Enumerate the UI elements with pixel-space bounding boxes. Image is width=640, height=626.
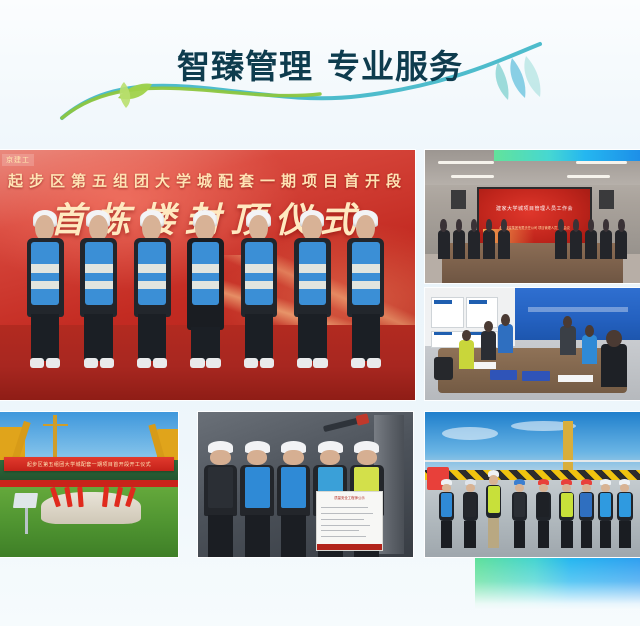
person (485, 470, 502, 548)
person (498, 324, 513, 353)
person (601, 344, 627, 387)
site-visit-scene (425, 412, 640, 557)
person (597, 479, 614, 549)
person (239, 441, 276, 557)
ceremony-scene: 京建工 起步区第五组团大学城配套一期项目首开段 首栋楼封顶仪式 (0, 150, 415, 400)
poster-root: 智臻管理专业服务 京建工 起步区第五组团大学城配套一期项目首开段 首栋楼封顶仪式 (0, 0, 640, 626)
photo-grid: 京建工 起步区第五组团大学城配套一期项目首开段 首栋楼封顶仪式 (0, 0, 640, 626)
led-screen-title: 建家大学城项目管理人员工作会 (479, 205, 591, 212)
podium (13, 493, 38, 508)
person (24, 210, 66, 368)
photo-topping-out-ceremony[interactable]: 京建工 起步区第五组团大学城配套一期项目首开段 首栋楼封顶仪式 (0, 150, 415, 400)
person (462, 479, 479, 549)
tower-crane (563, 421, 574, 470)
person (238, 210, 280, 368)
meeting-room-scene (425, 288, 640, 400)
ceremony-banner: 起步区第五组团大学城配套一期项目首开段开工仪式 (4, 457, 175, 472)
photo-groundbreaking-ceremony[interactable]: 起步区第五组团大学城配套一期项目首开段开工仪式 (0, 412, 178, 557)
person (511, 479, 528, 549)
guardrail (425, 460, 640, 462)
person (558, 479, 575, 549)
photo-site-office-meeting[interactable] (425, 288, 640, 400)
person (481, 331, 496, 360)
board-title: 质量安全工程师公示 (317, 495, 382, 500)
conference-hall-scene: 建家大学城项目管理人员工作会 北京城建集团有限责任公司 项目管理人员工作会议 (425, 150, 640, 283)
bottom-gradient-accent (475, 558, 640, 610)
board-footer (317, 544, 382, 550)
person (345, 210, 387, 368)
photo-workers-with-board[interactable]: 质量安全工程师公示 (198, 412, 413, 557)
person (438, 479, 455, 549)
person (459, 340, 474, 369)
banner-project-name: 起步区第五组团大学城配套一期项目首开段 (0, 170, 415, 191)
gradient-strip-accent (494, 150, 640, 161)
person (131, 210, 173, 368)
right-wall-panel (515, 288, 640, 340)
red-carpet (0, 480, 178, 487)
person (560, 326, 575, 355)
photo-staff-meeting-hall[interactable]: 建家大学城项目管理人员工作会 北京城建集团有限责任公司 项目管理人员工作会议 (425, 150, 640, 283)
company-logo: 京建工 (2, 154, 34, 166)
person (616, 479, 633, 549)
groundbreaking-scene: 起步区第五组团大学城配套一期项目首开段开工仪式 (0, 412, 178, 557)
person (202, 441, 239, 557)
person (535, 479, 552, 549)
commitment-board: 质量安全工程师公示 (316, 491, 383, 551)
person (78, 210, 120, 368)
person (578, 479, 595, 549)
person (275, 441, 312, 557)
photo-site-inspection[interactable] (425, 412, 640, 557)
person (185, 210, 227, 368)
person (291, 210, 333, 368)
ceremony-people (17, 210, 399, 368)
person (582, 335, 597, 364)
workers-scene: 质量安全工程师公示 (198, 412, 413, 557)
